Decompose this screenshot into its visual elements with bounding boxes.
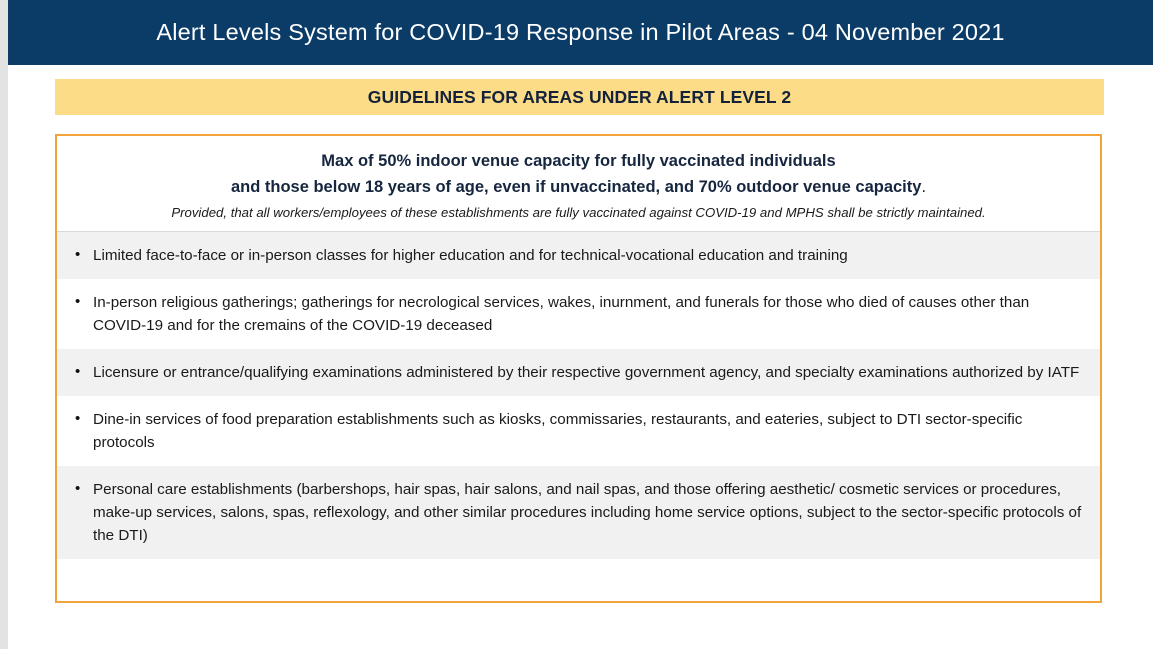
list-item: •Dine-in services of food preparation es… — [57, 396, 1100, 466]
guidelines-banner-label: GUIDELINES FOR AREAS UNDER ALERT LEVEL 2 — [368, 87, 791, 108]
slide-canvas: Alert Levels System for COVID-19 Respons… — [8, 0, 1153, 641]
list-item-text: Licensure or entrance/qualifying examina… — [93, 361, 1082, 384]
list-item: •In-person religious gatherings; gatheri… — [57, 279, 1100, 349]
guidelines-bullet-list: •Limited face-to-face or in-person class… — [57, 231, 1100, 560]
bullet-point-icon: • — [73, 291, 93, 314]
capacity-summary-block: Max of 50% indoor venue capacity for ful… — [57, 136, 1100, 231]
capacity-proviso-note: Provided, that all workers/employees of … — [71, 204, 1086, 222]
bullet-point-icon: • — [73, 244, 93, 267]
capacity-line-2-wrapper: and those below 18 years of age, even if… — [71, 175, 1086, 201]
bullet-point-icon: • — [73, 361, 93, 384]
page-title: Alert Levels System for COVID-19 Respons… — [156, 19, 1004, 46]
guidelines-banner: GUIDELINES FOR AREAS UNDER ALERT LEVEL 2 — [55, 79, 1104, 115]
slide-left-edge-strip — [0, 0, 8, 649]
list-item-text: In-person religious gatherings; gatherin… — [93, 291, 1082, 337]
list-item-text: Limited face-to-face or in-person classe… — [93, 244, 1082, 267]
list-item: •Licensure or entrance/qualifying examin… — [57, 349, 1100, 396]
capacity-line-2-period: . — [921, 178, 926, 196]
list-item: •Personal care establishments (barbersho… — [57, 466, 1100, 559]
bullet-point-icon: • — [73, 478, 93, 501]
list-item-text: Dine-in services of food preparation est… — [93, 408, 1082, 454]
guidelines-panel: Max of 50% indoor venue capacity for ful… — [55, 134, 1102, 603]
bullet-point-icon: • — [73, 408, 93, 431]
list-item: •Limited face-to-face or in-person class… — [57, 232, 1100, 279]
capacity-line-1: Max of 50% indoor venue capacity for ful… — [71, 149, 1086, 175]
list-item-text: Personal care establishments (barbershop… — [93, 478, 1082, 547]
capacity-line-2: and those below 18 years of age, even if… — [231, 178, 921, 196]
slide-title-bar: Alert Levels System for COVID-19 Respons… — [8, 0, 1153, 65]
